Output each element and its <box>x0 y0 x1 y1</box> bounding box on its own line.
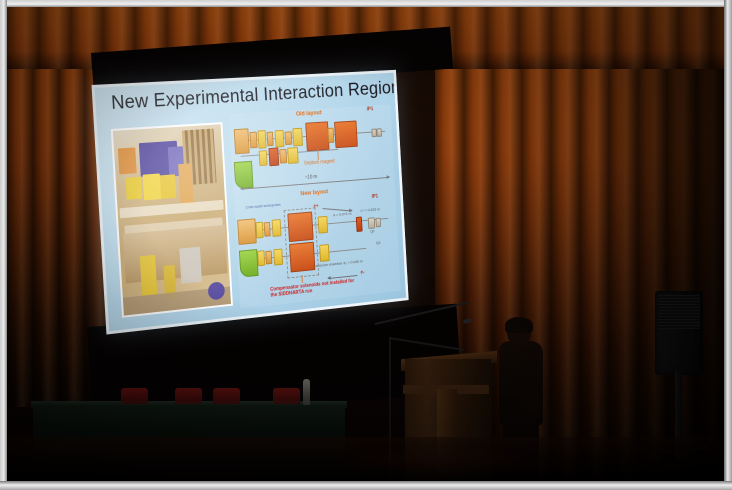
diagram-new-layout-label: New layout <box>300 189 328 197</box>
old-magnet-3 <box>257 130 266 149</box>
diagram-marker-q2: Q2 <box>376 241 381 245</box>
new-magnet-10 <box>356 217 363 232</box>
old-magnet-5 <box>275 130 285 148</box>
old-detector-2 <box>376 128 382 137</box>
new-solenoid-bottom <box>289 242 315 273</box>
diagram-ip1-label-new: IP1 <box>372 195 379 200</box>
chair-2 <box>175 388 202 404</box>
new-magnet-5 <box>257 250 265 266</box>
new-magnet-9 <box>319 244 330 262</box>
slide-layout-diagram: Old layout IP1 <box>229 104 400 308</box>
old-magnet-11 <box>287 147 299 164</box>
diagram-septum-label: Septum magnet <box>304 160 335 167</box>
diagram-distance-label: ~10 m <box>305 175 318 181</box>
diagram-crab-waist-label: Crab waist sextupoles <box>245 203 280 210</box>
new-magnet-4 <box>272 219 282 237</box>
old-magnet-6 <box>284 131 292 145</box>
projected-slide: New Experimental Interaction Region <box>91 70 408 335</box>
chair-1 <box>121 388 148 404</box>
photograph-scene: New Experimental Interaction Region <box>0 0 732 490</box>
photo-grey-module <box>179 247 202 284</box>
old-septum-magnet <box>305 121 329 151</box>
photo-yellow-magnet-1 <box>125 177 142 200</box>
new-magnet-7 <box>273 249 283 266</box>
chair-4 <box>273 388 300 404</box>
frame-border-left <box>0 0 7 490</box>
diagram-old-layout-label: Old layout <box>296 110 322 117</box>
photo-beam-pipe <box>178 163 194 205</box>
frame-border-top <box>0 0 732 7</box>
photo-yellow-magnet-4 <box>140 255 158 296</box>
diagram-eplus-label: e+ <box>313 204 318 209</box>
diagram-ip1-label-old: IP1 <box>367 107 374 112</box>
stage-floor <box>7 437 725 483</box>
projection-screen: New Experimental Interaction Region <box>91 70 408 335</box>
new-magnet-8 <box>318 216 329 234</box>
old-magnet-10 <box>279 149 287 164</box>
diagram-param-a: a = 0.071 m <box>333 212 351 217</box>
diagram-red-annotation: Compensator solenoids not installed for … <box>270 278 355 299</box>
new-detector-4 <box>375 218 381 228</box>
new-solenoid-top <box>287 212 313 243</box>
old-magnet-1 <box>234 128 250 154</box>
chair-3 <box>213 388 240 404</box>
frame-border-right <box>724 0 732 490</box>
curtain-shadow <box>595 7 725 483</box>
photo-yellow-magnet-3 <box>160 174 176 199</box>
new-magnet-2 <box>256 222 264 239</box>
new-magnet-1 <box>237 218 257 245</box>
old-dipole <box>334 121 358 149</box>
presenter-arm <box>527 353 539 413</box>
slide-hardware-photo <box>111 122 233 318</box>
new-magnet-6 <box>265 251 272 265</box>
new-detector-3 <box>368 217 375 229</box>
old-magnet-4 <box>267 132 274 147</box>
photo-rail-1 <box>119 200 223 218</box>
pa-loudspeaker <box>655 291 703 375</box>
photo-yellow-magnet-2 <box>143 173 162 200</box>
old-detector-yoke <box>234 161 254 189</box>
diagram-param-lstar: L* = 0.325 m <box>360 207 380 212</box>
presenter-hair <box>505 317 533 333</box>
diagram-marker-q1: Q1 <box>370 229 375 233</box>
old-magnet-2 <box>249 132 257 149</box>
old-magnet-7 <box>292 128 303 147</box>
new-detector-yoke <box>239 249 259 278</box>
old-magnet-12 <box>327 128 334 143</box>
old-magnet-8 <box>259 150 268 166</box>
new-magnet-3 <box>264 222 271 237</box>
pa-speaker-grill <box>658 295 700 329</box>
photo-orange-magnet <box>118 147 137 174</box>
diagram-eminus-label: e- <box>361 271 365 276</box>
auditorium-room: New Experimental Interaction Region <box>7 7 725 483</box>
old-magnet-9 <box>268 147 279 166</box>
water-bottle <box>303 379 310 405</box>
